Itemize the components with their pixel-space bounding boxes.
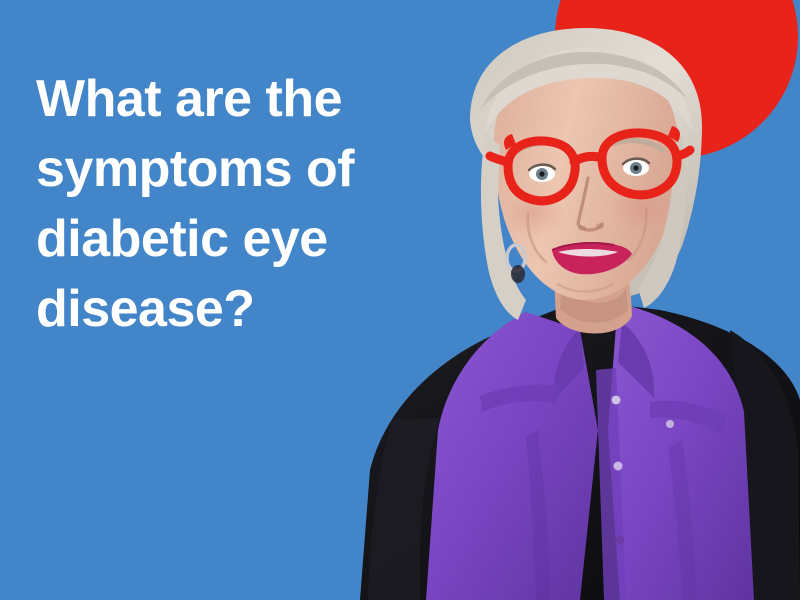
page-title: What are the symptoms of diabetic eye di… bbox=[36, 64, 436, 344]
thumbnail-canvas: What are the symptoms of diabetic eye di… bbox=[0, 0, 800, 600]
subject-head bbox=[470, 28, 702, 320]
